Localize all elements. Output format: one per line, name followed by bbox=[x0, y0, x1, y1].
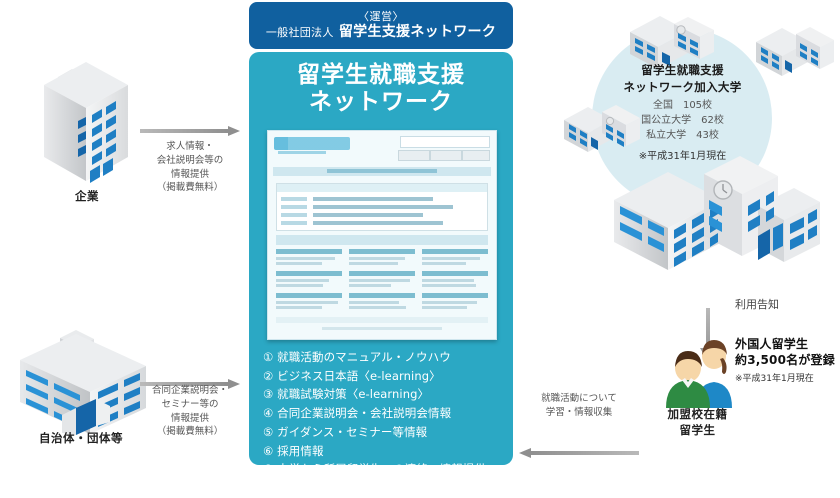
list-item: ⑧ その他留学生の就職活動に関する情報 bbox=[263, 479, 501, 498]
site-copyright bbox=[322, 327, 442, 330]
site-content-grid bbox=[276, 249, 488, 311]
operator-name: 一般社団法人 留学生支援ネットワーク bbox=[266, 24, 496, 42]
caption-line: 情報提供 bbox=[136, 168, 244, 182]
operator-org-name: 留学生支援ネットワーク bbox=[339, 24, 496, 40]
student-info-note: ※平成31年1月現在 bbox=[735, 371, 840, 384]
student-label: 加盟校在籍 留学生 bbox=[645, 406, 750, 438]
caption-line: セミナー等の bbox=[132, 398, 248, 412]
student-registration-info: 外国人留学生 約3,500名が登録 ※平成31年1月現在 bbox=[735, 336, 840, 384]
stat-line: 私立大学 43校 bbox=[600, 128, 765, 143]
student-arrow-caption: 就職活動について 学習・情報収集 bbox=[517, 392, 641, 420]
stat-line: 全国 105校 bbox=[600, 98, 765, 113]
student-to-network-arrow bbox=[519, 448, 639, 457]
service-feature-list: ① 就職活動のマニュアル・ノウハウ ② ビジネス日本語〈e-learning〉 … bbox=[263, 348, 501, 498]
site-button-2[interactable] bbox=[430, 150, 462, 161]
university-info-block: 留学生就職支援 ネットワーク加入大学 全国 105校 国公立大学 62校 私立大… bbox=[600, 62, 765, 162]
operator-corp-type: 一般社団法人 bbox=[266, 26, 334, 39]
site-logo-subtitle bbox=[278, 151, 326, 154]
university-stats: 全国 105校 国公立大学 62校 私立大学 43校 bbox=[600, 98, 765, 143]
caption-line: （掲載費無料） bbox=[132, 425, 248, 439]
list-item: ⑤ ガイダンス・セミナー等情報 bbox=[263, 423, 501, 442]
list-item: ② ビジネス日本語〈e-learning〉 bbox=[263, 367, 501, 386]
caption-line: 学習・情報収集 bbox=[517, 406, 641, 420]
student-info-line2: 約3,500名が登録 bbox=[735, 352, 840, 368]
site-news-panel bbox=[276, 183, 488, 231]
student-label-line2: 留学生 bbox=[645, 422, 750, 438]
network-title: 留学生就職支援 ネットワーク bbox=[249, 62, 513, 116]
list-item: ③ 就職試験対策〈e-learning〉 bbox=[263, 385, 501, 404]
stat-line: 国公立大学 62校 bbox=[600, 113, 765, 128]
student-info-line1: 外国人留学生 bbox=[735, 336, 840, 352]
list-item: ① 就職活動のマニュアル・ノウハウ bbox=[263, 348, 501, 367]
company-label: 企業 bbox=[20, 188, 154, 204]
company-arrow-caption: 求人情報・ 会社説明会等の 情報提供 （掲載費無料） bbox=[136, 140, 244, 195]
caption-line: 合同企業説明会・ bbox=[132, 384, 248, 398]
operator-prefix: 〈運営〉 bbox=[358, 10, 404, 24]
list-item: ④ 合同企業説明会・会社説明会情報 bbox=[263, 404, 501, 423]
site-button-3[interactable] bbox=[462, 150, 490, 161]
network-title-line1: 留学生就職支援 bbox=[249, 62, 513, 89]
university-title-line1: 留学生就職支援 bbox=[600, 62, 765, 79]
site-button-1[interactable] bbox=[398, 150, 430, 161]
student-label-line1: 加盟校在籍 bbox=[645, 406, 750, 422]
site-section-header bbox=[276, 235, 488, 245]
network-title-line2: ネットワーク bbox=[249, 89, 513, 116]
company-building-icon bbox=[28, 55, 146, 190]
list-item: ⑥ 採用情報 bbox=[263, 442, 501, 461]
notify-arrow-caption: 利用告知 bbox=[735, 296, 779, 312]
site-nav-bar[interactable] bbox=[273, 167, 491, 176]
university-title-line2: ネットワーク加入大学 bbox=[600, 79, 765, 96]
network-center-panel: 〈運営〉 一般社団法人 留学生支援ネットワーク 留学生就職支援 ネットワーク bbox=[249, 0, 513, 467]
website-screenshot-mock[interactable] bbox=[267, 130, 497, 340]
university-building-icon-main bbox=[608, 148, 822, 290]
municipality-arrow-caption: 合同企業説明会・ セミナー等の 情報提供 （掲載費無料） bbox=[132, 384, 248, 439]
operator-header: 〈運営〉 一般社団法人 留学生支援ネットワーク bbox=[249, 2, 513, 49]
university-note: ※平成31年1月現在 bbox=[600, 147, 765, 162]
site-footer-nav bbox=[276, 317, 488, 323]
caption-line: 就職活動について bbox=[517, 392, 641, 406]
site-logo-icon bbox=[274, 137, 350, 150]
list-item: ⑦ 大学から所属留学生への連絡・情報提供 bbox=[263, 460, 501, 479]
caption-line: （掲載費無料） bbox=[136, 181, 244, 195]
network-body: 留学生就職支援 ネットワーク bbox=[249, 52, 513, 465]
caption-line: 情報提供 bbox=[132, 412, 248, 426]
caption-line: 会社説明会等の bbox=[136, 154, 244, 168]
company-to-network-arrow bbox=[140, 126, 240, 135]
site-search-input[interactable] bbox=[400, 136, 490, 148]
caption-line: 求人情報・ bbox=[136, 140, 244, 154]
